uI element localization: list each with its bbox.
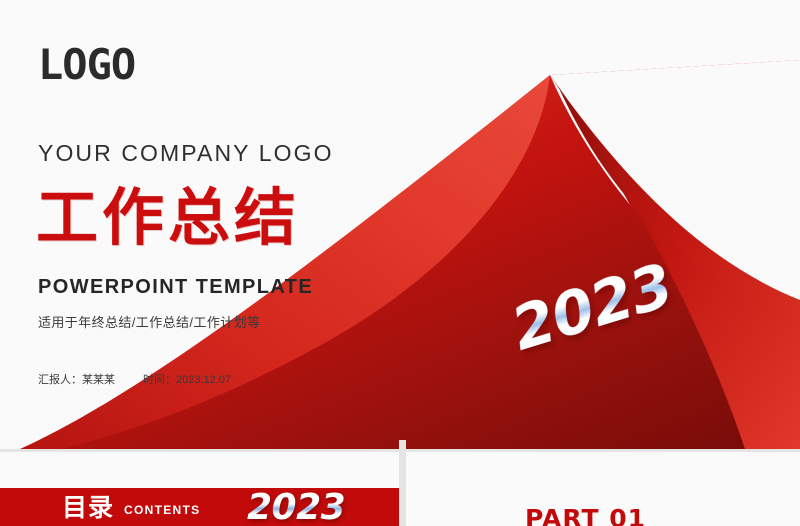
page-title: 工作总结 [36,185,300,250]
logo-mark: LOGO [38,44,135,86]
contents-year-badge: 2023 [247,490,345,526]
thumbnail-divider-corner [399,440,406,449]
company-name-line: YOUR COMPANY LOGO [38,142,334,165]
subtitle: POWERPOINT TEMPLATE [38,277,313,297]
slide-thumbnail-contents[interactable]: 目录 CONTENTS 2023 [0,452,399,526]
tagline: 适用于年终总结/工作总结/工作计划等 [38,316,260,329]
template-preview-deck: LOGO YOUR COMPANY LOGO 工作总结 POWERPOINT T… [0,0,800,526]
presenter-label: 汇报人：某某某 [38,374,115,386]
slide-thumbnail-title[interactable]: LOGO YOUR COMPANY LOGO 工作总结 POWERPOINT T… [0,0,800,449]
contents-heading-cn: 目录 [62,495,114,520]
contents-heading-en: CONTENTS [124,504,200,516]
date-label: 时间：2023.12.07 [143,374,231,386]
presentation-meta: 汇报人：某某某时间：2023.12.07 [38,375,231,386]
slide-thumbnail-part[interactable]: PART 01 [406,452,800,526]
part-heading: PART 01 [525,506,646,526]
thumbnail-divider-vertical [399,452,406,526]
